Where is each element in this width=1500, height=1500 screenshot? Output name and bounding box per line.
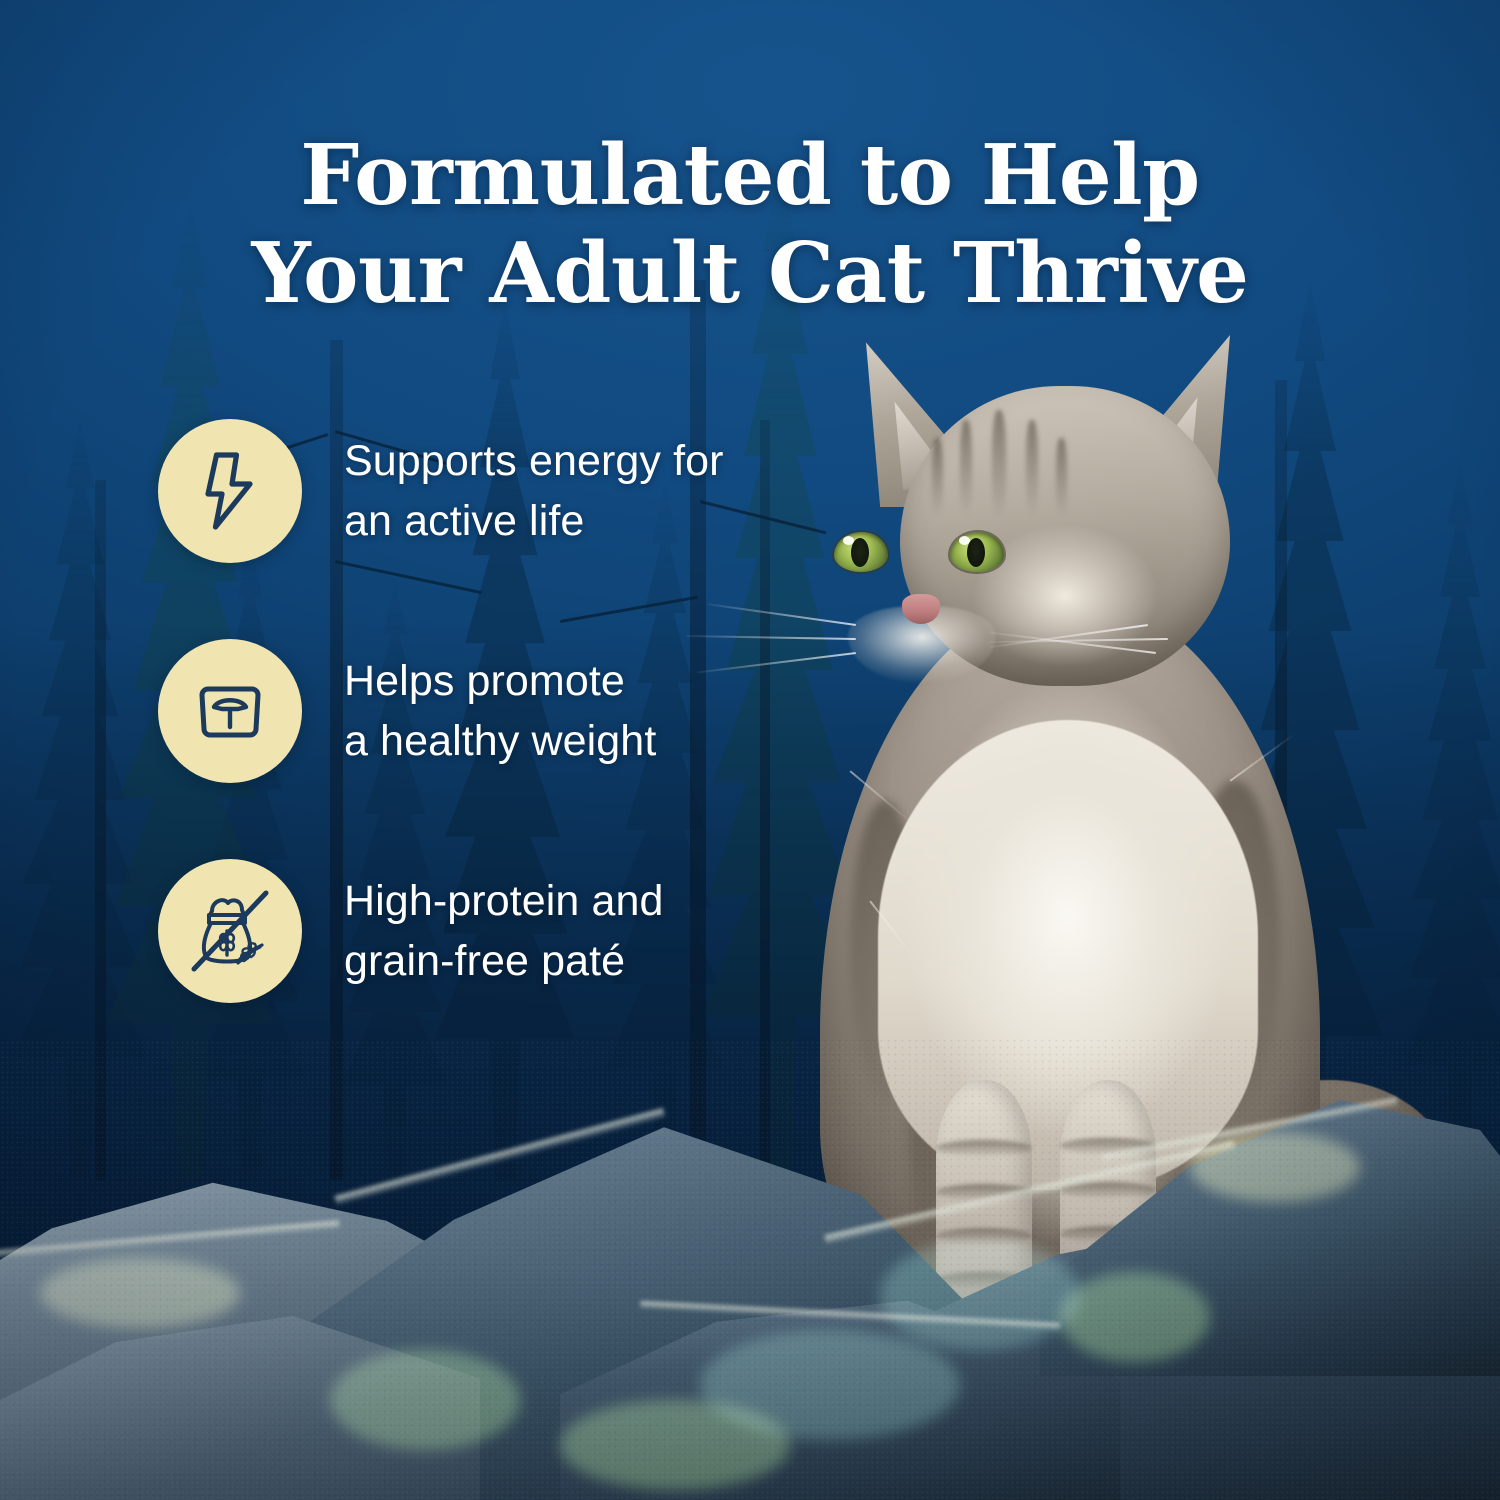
headline-line-2: Your Adult Cat Thrive	[0, 224, 1500, 322]
bathroom-scale-icon	[186, 667, 274, 755]
benefit-label-energy: Supports energy for an active life	[344, 431, 724, 551]
benefit-item-grain-free: High-protein and grain-free paté	[158, 858, 778, 1004]
cat-eye-right	[950, 532, 1004, 572]
lightning-bolt-icon	[186, 447, 274, 535]
benefit-icon-badge-grain-free	[158, 859, 302, 1003]
benefits-list: Supports energy for an active life Helps…	[158, 418, 778, 1078]
benefit-label-weight: Helps promote a healthy weight	[344, 651, 656, 771]
benefit-icon-badge-energy	[158, 419, 302, 563]
promo-image: Formulated to Help Your Adult Cat Thrive…	[0, 0, 1500, 1500]
benefit-item-weight: Helps promote a healthy weight	[158, 638, 778, 784]
no-grain-icon	[182, 883, 278, 979]
benefit-icon-badge-weight	[158, 639, 302, 783]
benefit-label-grain-free: High-protein and grain-free paté	[344, 871, 664, 991]
page-title: Formulated to Help Your Adult Cat Thrive	[0, 126, 1500, 322]
benefit-item-energy: Supports energy for an active life	[158, 418, 778, 564]
headline-line-1: Formulated to Help	[0, 126, 1500, 224]
cat-eye-left	[834, 532, 888, 572]
rock-foreground	[0, 1040, 1500, 1500]
